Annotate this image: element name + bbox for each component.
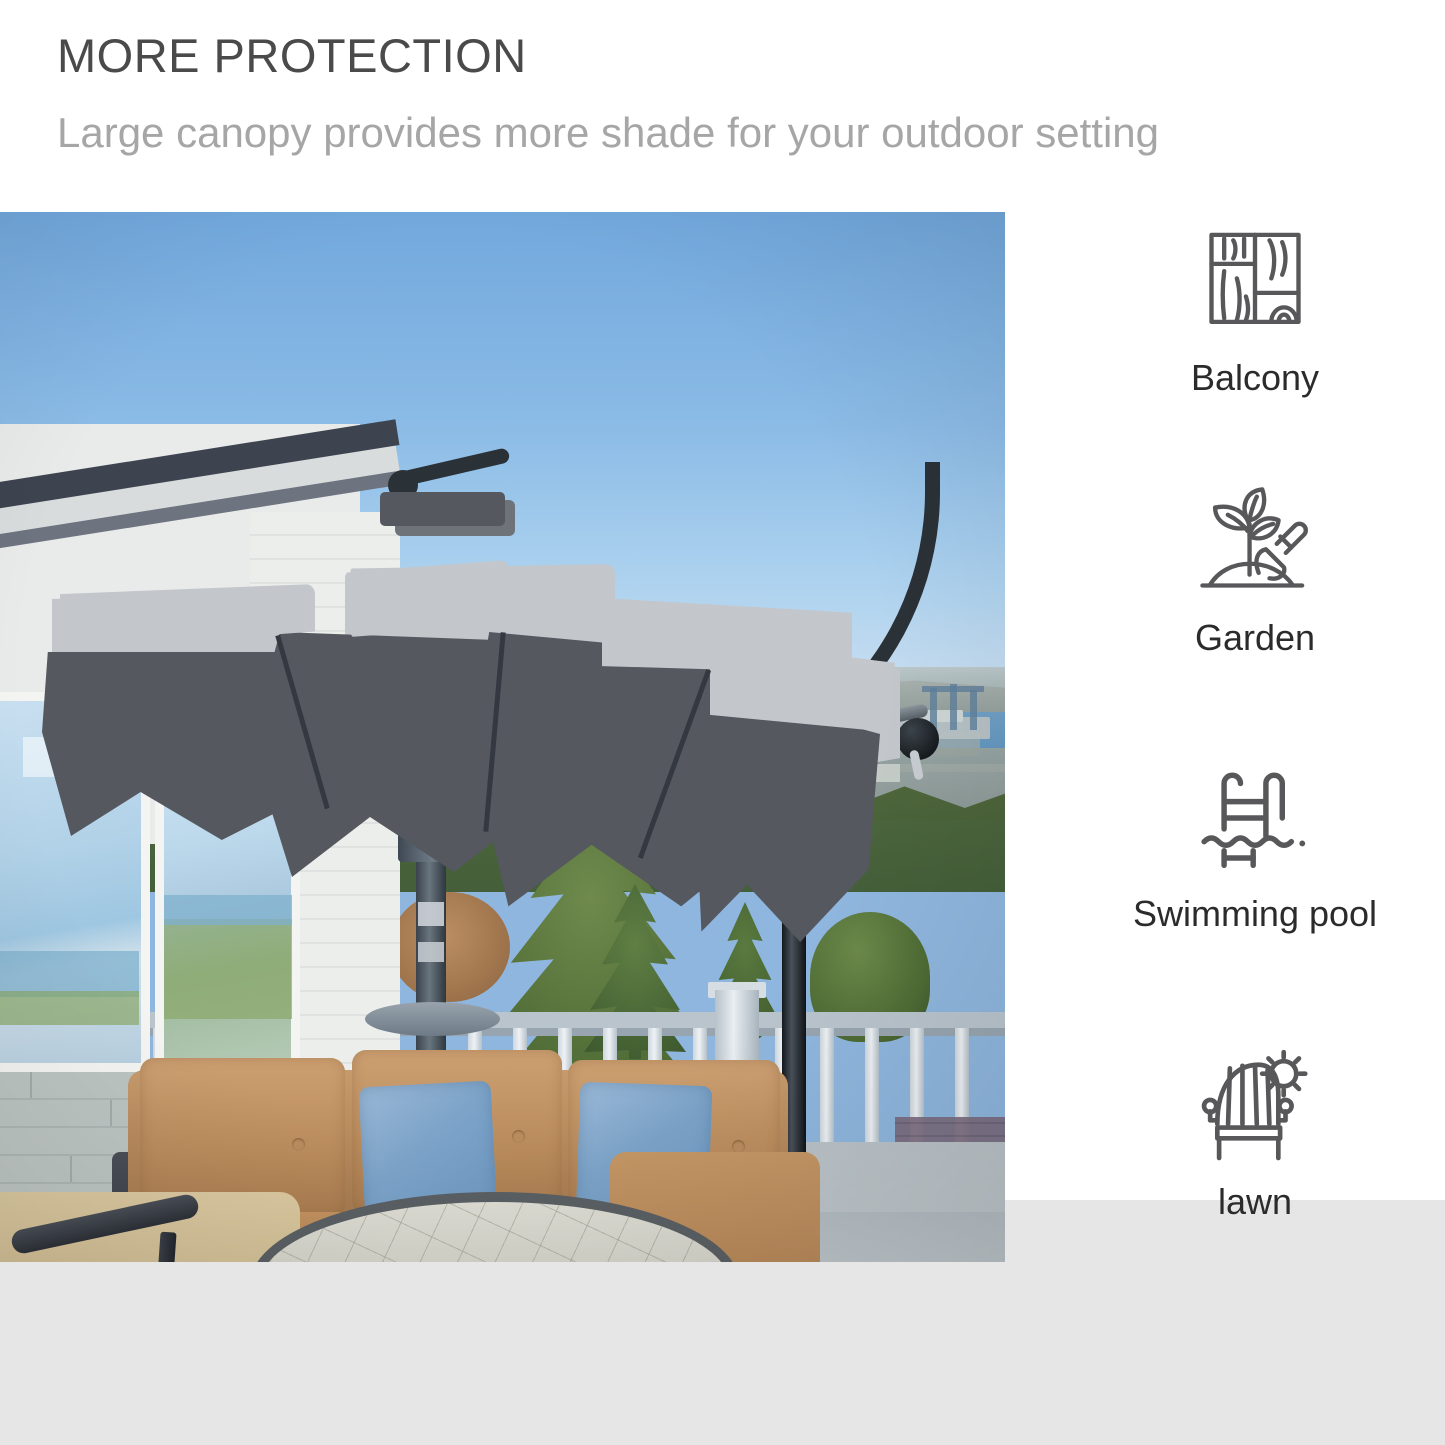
shingle-seam — [30, 1072, 32, 1098]
feature-label: Garden — [1110, 616, 1400, 660]
lawn-chair-sun-icon — [1110, 1046, 1400, 1166]
feature-garden[interactable]: Garden — [1110, 482, 1400, 660]
feature-label: lawn — [1110, 1180, 1400, 1224]
pool-ladder-icon — [1110, 758, 1400, 878]
port-crane — [970, 690, 977, 730]
cushion-tuft — [512, 1130, 525, 1143]
patio-heater-table — [365, 1002, 500, 1036]
window-foliage-reflection — [0, 991, 139, 1025]
feature-label: Balcony — [1110, 356, 1400, 400]
window-bay-reflection — [164, 895, 292, 925]
canopy-top-cap — [380, 492, 505, 526]
window-foliage-reflection — [164, 919, 292, 1019]
feature-balcony[interactable]: Balcony — [1110, 222, 1400, 400]
deck-planks-icon — [1110, 222, 1400, 342]
patio-heater-label — [418, 902, 444, 926]
header: MORE PROTECTION Large canopy provides mo… — [0, 0, 1445, 212]
page-subtitle: Large canopy provides more shade for you… — [57, 107, 1159, 159]
railing-top-cap — [0, 1012, 1005, 1028]
shingle-seam — [110, 1100, 112, 1126]
shingle-seam — [70, 1156, 72, 1182]
page-title: MORE PROTECTION — [57, 28, 527, 84]
port-crane-boom — [922, 686, 984, 692]
feature-label: Swimming pool — [1110, 892, 1400, 936]
cushion-tuft — [292, 1138, 305, 1151]
feature-lawn[interactable]: lawn — [1110, 1046, 1400, 1224]
plant-trowel-icon — [1110, 482, 1400, 602]
railing-top-rail — [0, 1028, 1005, 1036]
product-lifestyle-photo — [0, 212, 1005, 1262]
feature-swimming-pool[interactable]: Swimming pool — [1110, 758, 1400, 936]
autumn-foliage — [390, 892, 510, 1002]
patio-heater-label — [418, 942, 444, 962]
